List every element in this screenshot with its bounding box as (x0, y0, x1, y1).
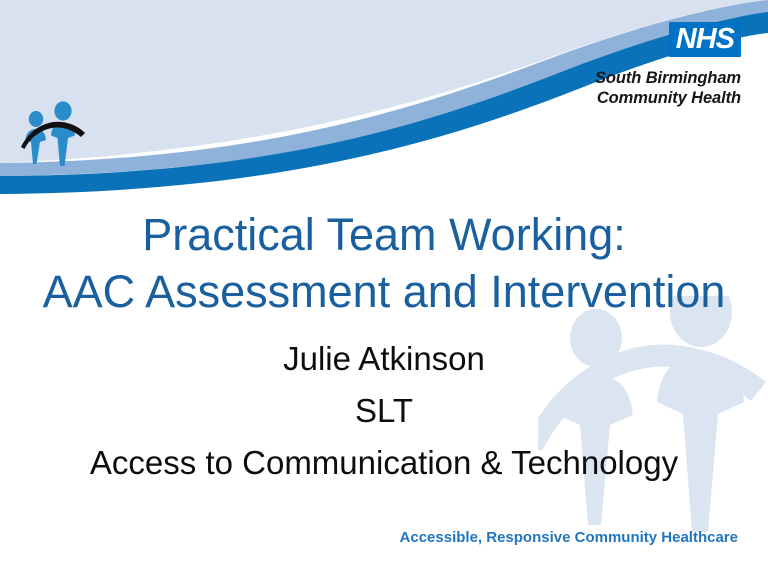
slide-subtitle: Julie Atkinson SLT Access to Communicati… (0, 333, 768, 489)
subtitle-presenter-name: Julie Atkinson (0, 333, 768, 385)
logo-large-figure (51, 101, 75, 166)
presentation-slide: NHS South Birmingham Community Health Pr… (0, 0, 768, 576)
subtitle-service-name: Access to Communication & Technology (0, 437, 768, 489)
footer-tagline: Accessible, Responsive Community Healthc… (400, 528, 738, 547)
slide-title: Practical Team Working: AAC Assessment a… (0, 206, 768, 320)
title-line-1: Practical Team Working: (0, 206, 768, 263)
trust-name-line-2: Community Health (595, 88, 741, 108)
nhs-logo-badge: NHS (669, 22, 741, 57)
nhs-brand-lockup: NHS South Birmingham Community Health (595, 22, 741, 108)
nhs-trust-name: South Birmingham Community Health (595, 68, 741, 108)
community-health-logo (18, 98, 92, 166)
nhs-logo-text: NHS (676, 24, 734, 54)
title-line-2: AAC Assessment and Intervention (0, 263, 768, 320)
trust-name-line-1: South Birmingham (595, 68, 741, 88)
subtitle-presenter-role: SLT (0, 385, 768, 437)
